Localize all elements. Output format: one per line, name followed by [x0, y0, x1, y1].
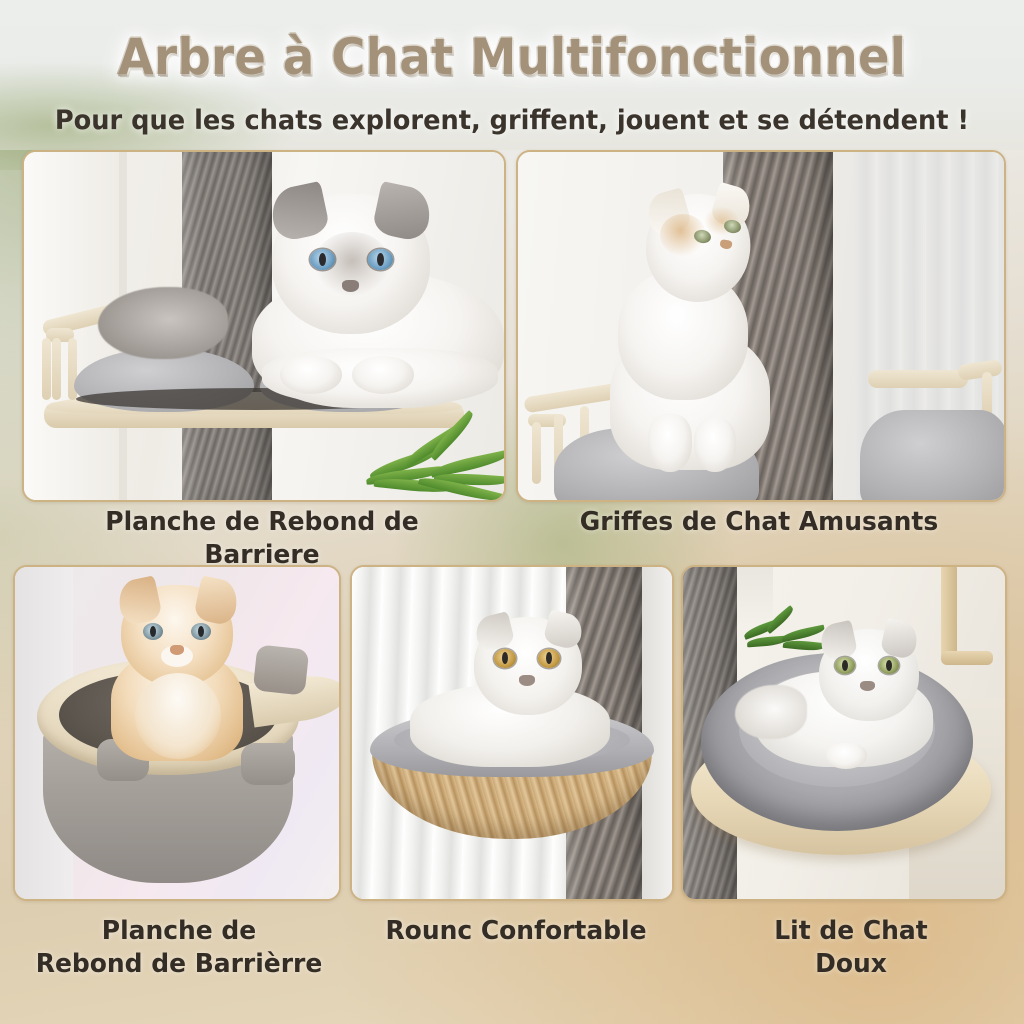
caption-barrier-board-top: Planche de Rebond de Barriere — [32, 506, 493, 573]
page-title: Arbre à Chat Multifonctionnel — [36, 28, 988, 86]
caption-line: Planche de Rebond de — [32, 506, 493, 539]
photo-comfortable-round — [352, 567, 672, 899]
caption-fun-cat-claws: Griffes de Chat Amusants — [526, 506, 993, 539]
caption-comfortable-round: Rounc Confortable — [362, 915, 669, 948]
panel-soft-cat-bed[interactable] — [681, 565, 1007, 901]
caption-line: Rebond de Barrièrre — [11, 948, 347, 981]
panel-barrier-board-bottom[interactable] — [13, 565, 341, 901]
caption-line: Rounc Confortable — [362, 915, 669, 948]
panel-comfortable-round[interactable] — [350, 565, 674, 901]
caption-line: Doux — [696, 948, 1005, 981]
panel-barrier-board-top[interactable] — [22, 150, 506, 502]
caption-line: Planche de — [11, 915, 347, 948]
photo-barrier-board-top — [24, 152, 504, 500]
photo-soft-cat-bed — [683, 567, 1005, 899]
photo-fun-cat-claws — [518, 152, 1004, 500]
photo-barrier-board-bottom — [15, 567, 339, 899]
caption-barrier-board-bottom: Planche de Rebond de Barrièrre — [11, 915, 347, 982]
caption-soft-cat-bed: Lit de Chat Doux — [696, 915, 1005, 982]
panel-fun-cat-claws[interactable] — [516, 150, 1006, 502]
caption-line: Griffes de Chat Amusants — [526, 506, 993, 539]
caption-line: Lit de Chat — [696, 915, 1005, 948]
page-subtitle: Pour que les chats explorent, griffent, … — [26, 105, 999, 136]
